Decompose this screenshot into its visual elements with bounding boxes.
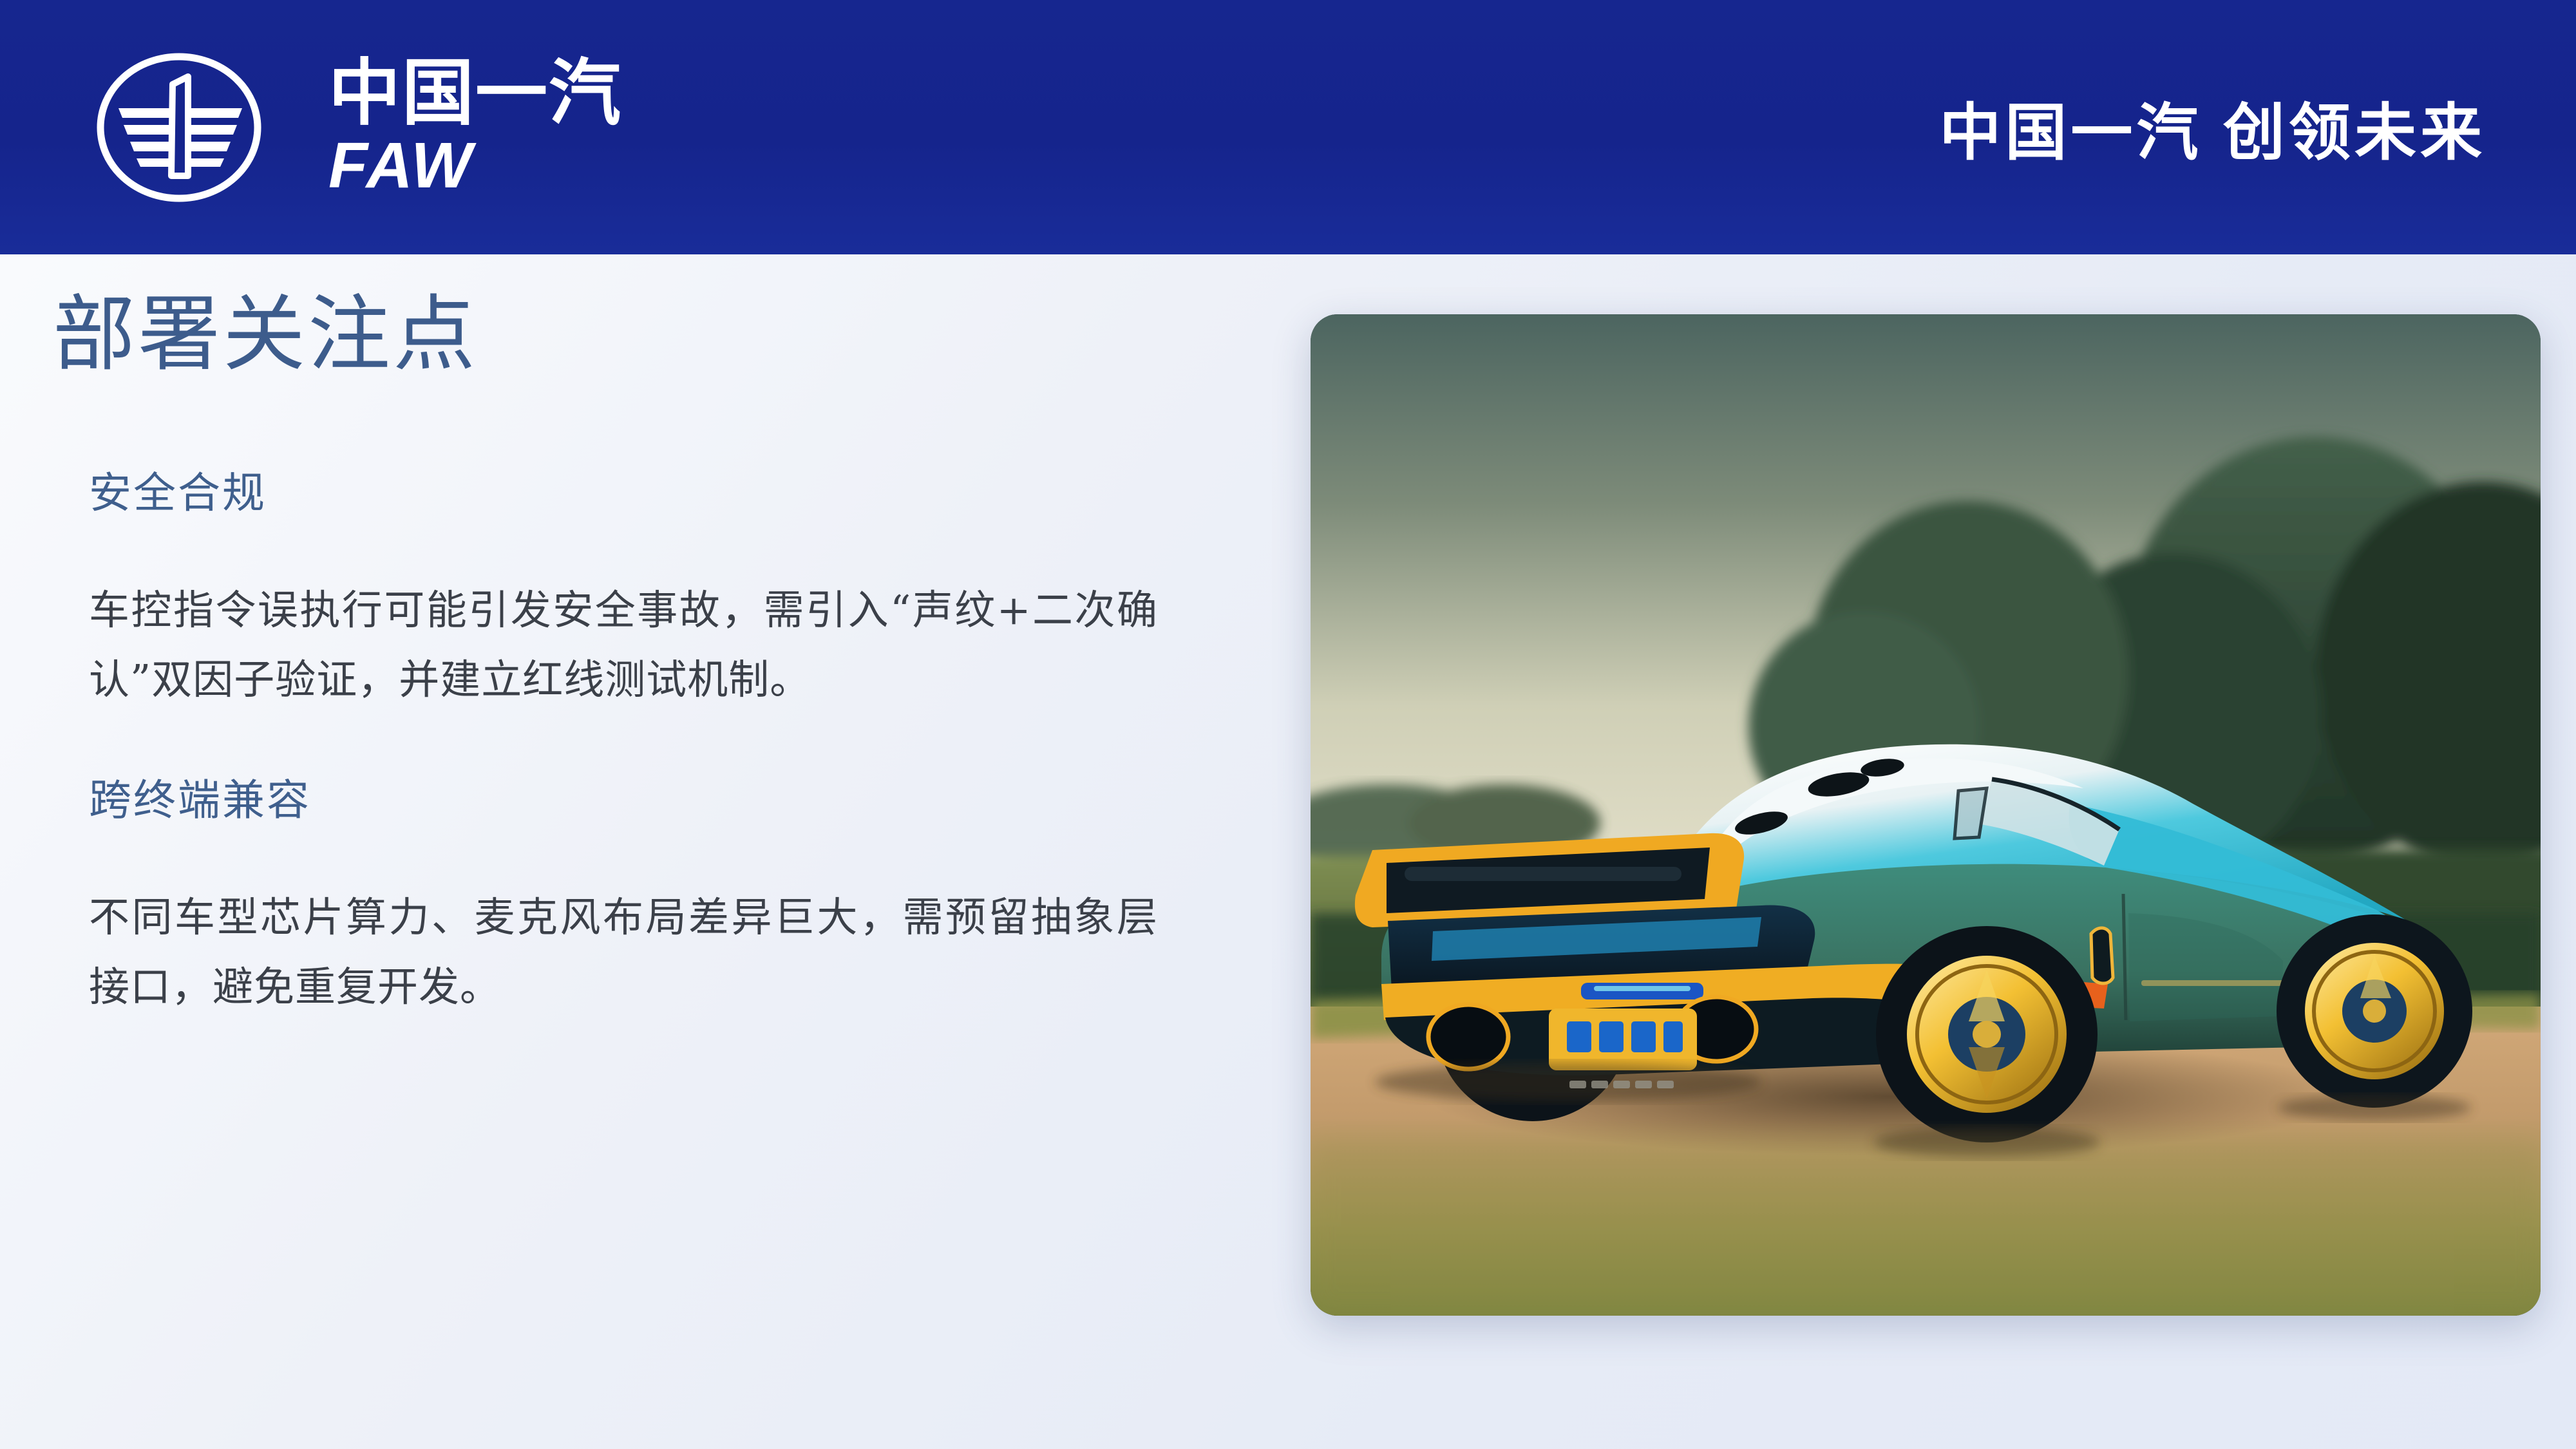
section-body: 不同车型芯片算力、麦克风布局差异巨大，需预留抽象层接口，避免重复开发。	[89, 883, 1158, 1023]
section-heading: 安全合规	[89, 459, 1185, 520]
brand-name-cn: 中国一汽	[328, 57, 622, 129]
faw-emblem-icon	[90, 47, 303, 208]
slide-header: 中国一汽 FAW 中国一汽 创领未来	[0, 0, 2576, 254]
section-body: 车控指令误执行可能引发安全事故，需引入“声纹+二次确认”双因子验证，并建立红线测…	[89, 576, 1158, 715]
page-title: 部署关注点	[53, 283, 1185, 386]
section-safety-compliance: 安全合规 车控指令误执行可能引发安全事故，需引入“声纹+二次确认”双因子验证，并…	[53, 459, 1185, 715]
content-left-column: 部署关注点 安全合规 车控指令误执行可能引发安全事故，需引入“声纹+二次确认”双…	[0, 254, 1262, 1449]
brand-lockup: 中国一汽 FAW	[90, 47, 622, 208]
section-heading: 跨终端兼容	[89, 766, 1185, 828]
section-cross-terminal-compatibility: 跨终端兼容 不同车型芯片算力、麦克风布局差异巨大，需预留抽象层接口，避免重复开发…	[53, 766, 1185, 1023]
slide-root: 中国一汽 FAW 中国一汽 创领未来 部署关注点 安全合规 车控指令误执行可能引…	[0, 0, 2576, 1449]
brand-wordmark: 中国一汽 FAW	[328, 57, 622, 198]
concept-car-image	[1311, 314, 2541, 1316]
brand-name-en: FAW	[328, 133, 622, 198]
header-slogan: 中国一汽 创领未来	[1939, 82, 2537, 172]
